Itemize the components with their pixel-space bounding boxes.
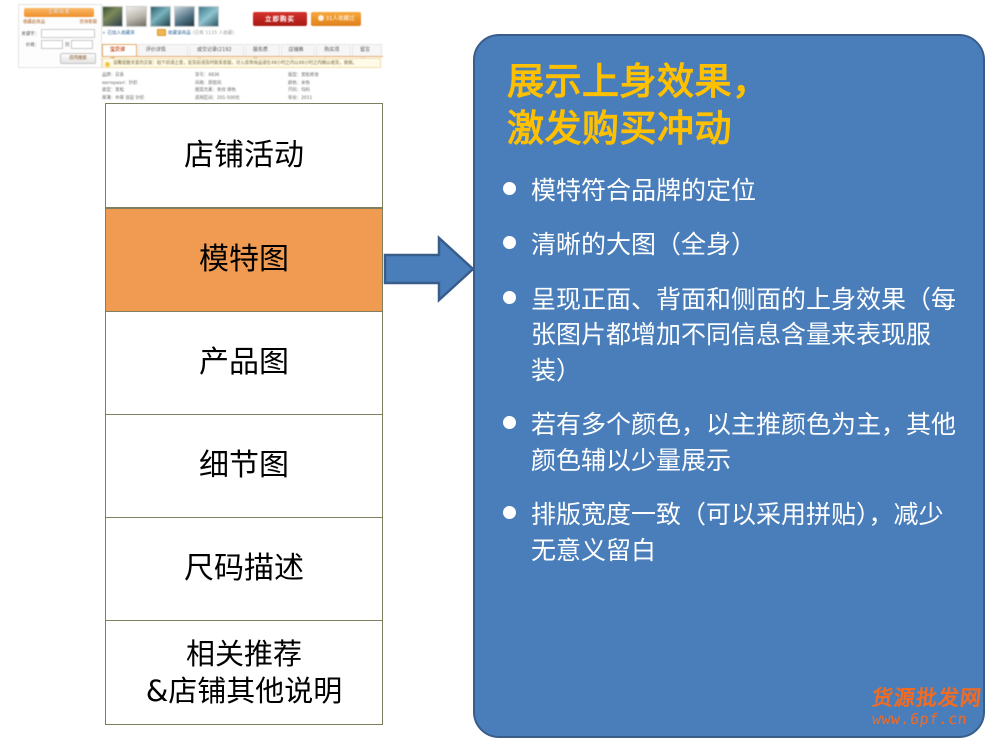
- flow-box-related-recommend[interactable]: 相关推荐 &店铺其他说明: [106, 621, 382, 724]
- taobao-page-screenshot: 立即出发 收藏此商品 咨询客服 关键字： 价格： 到 店内搜索: [0, 0, 400, 105]
- collected-badge: 31人收藏过: [311, 12, 361, 26]
- tab-reviews[interactable]: 评价详情(3811): [138, 44, 188, 56]
- bullet-dot-icon: [503, 416, 516, 429]
- attribute-column: 品牌：日系 материал：针织 类型：宽松 厚薄：中厚 双层 针织: [102, 72, 195, 102]
- bullet-text: 若有多个颜色，以主推颜色为主，其他颜色辅以少量展示: [531, 407, 965, 478]
- product-thumbnail-strip: [102, 6, 219, 27]
- bullet-dot-icon: [503, 182, 516, 195]
- attribute-item: материал：针织: [102, 80, 195, 88]
- attribute-item: 货号：4836: [195, 72, 288, 80]
- flow-box-shop-activity[interactable]: 店铺活动: [106, 104, 382, 208]
- shop-link-favorite[interactable]: 收藏此商品: [23, 19, 45, 25]
- attribute-item: 风格：原宿风: [195, 80, 288, 88]
- info-icon: [105, 62, 110, 67]
- product-sub-links: + 已加入收藏夹 收藏该商品 (已有 1135 人收藏): [102, 29, 234, 36]
- folder-icon: [157, 29, 166, 36]
- add-to-favorites-link[interactable]: + 已加入收藏夹: [102, 30, 135, 36]
- bullet-text: 排版宽度一致（可以采用拼贴），减少无意义留白: [531, 497, 965, 568]
- shop-notice-text: 温馨提醒亲爱的买家：拍下前请之意，发货前请及时联系客服，对入库等商品请在48小时…: [113, 61, 357, 66]
- keyword-input[interactable]: [41, 29, 95, 38]
- product-thumbnail[interactable]: [102, 6, 123, 27]
- favorite-count-text: (已有 1135 人收藏): [193, 30, 234, 36]
- attribute-item: 年份：2011: [288, 95, 381, 103]
- flow-box-label: 相关推荐 &店铺其他说明: [146, 636, 343, 709]
- flow-box-size-description[interactable]: 尺码描述: [106, 518, 382, 621]
- watermark-site-name: 货源批发网: [871, 686, 1000, 710]
- attribute-item: 类型：宽松: [102, 87, 195, 95]
- flow-box-label: 细节图: [199, 447, 289, 485]
- page-structure-flow: 店铺活动 模特图 产品图 细节图 尺码描述 相关推荐 &店铺其他说明: [105, 103, 383, 725]
- panel-title: 展示上身效果， 激发购买冲动: [507, 58, 965, 153]
- guidance-bullet-list: 模特符合品牌的定位 清晰的大图（全身） 呈现正面、背面和侧面的上身效果（每张图片…: [501, 173, 965, 569]
- product-thumbnail[interactable]: [198, 6, 219, 27]
- keyword-field-row: 关键字：: [21, 29, 95, 38]
- bullet-dot-icon: [503, 506, 516, 519]
- product-thumbnail[interactable]: [150, 6, 171, 27]
- flow-box-product-photo[interactable]: 产品图: [106, 312, 382, 415]
- shop-promo-button[interactable]: 立即出发: [24, 8, 94, 17]
- attribute-item: 版型：宽松修身: [288, 72, 381, 80]
- price-min-input[interactable]: [41, 40, 63, 49]
- attribute-item: 尺码：均码: [288, 87, 381, 95]
- watermark-url: www.6pf.cn: [871, 710, 999, 728]
- guidance-panel: 展示上身效果， 激发购买冲动 模特符合品牌的定位 清晰的大图（全身） 呈现正面、…: [473, 34, 985, 738]
- attribute-item: 颜色：米色: [288, 80, 381, 88]
- price-field-row: 价格： 到: [21, 40, 93, 49]
- bullet-dot-icon: [503, 291, 516, 304]
- tab-message-board[interactable]: 留言板: [352, 44, 382, 56]
- flow-box-label-line2: &店铺其他说明: [146, 674, 343, 708]
- bullet-item: 若有多个颜色，以主推颜色为主，其他颜色辅以少量展示: [501, 407, 965, 478]
- tab-service-quality[interactable]: 服务质量: [245, 44, 280, 56]
- slide-canvas: 立即出发 收藏此商品 咨询客服 关键字： 价格： 到 店内搜索: [0, 0, 1000, 750]
- attribute-item: 厚薄：中厚 双层 针织: [102, 95, 195, 103]
- flow-box-label: 尺码描述: [184, 550, 304, 588]
- tab-purchase-notes[interactable]: 购买须知: [316, 44, 351, 56]
- site-watermark: 货源批发网 www.6pf.cn: [872, 686, 998, 744]
- flow-box-label: 店铺活动: [184, 137, 304, 175]
- flow-box-detail-photo[interactable]: 细节图: [106, 415, 382, 518]
- product-tab-bar: 宝贝详情 评价详情(3811) 成交记录(2192件) 服务质量 店铺推荐 购买…: [102, 44, 383, 57]
- keyword-label: 关键字：: [21, 31, 39, 37]
- shop-quick-links: 收藏此商品 咨询客服: [23, 19, 97, 25]
- product-attribute-table: 品牌：日系 материал：针织 类型：宽松 厚薄：中厚 双层 针织 货号：4…: [102, 72, 381, 102]
- bullet-item: 清晰的大图（全身）: [501, 227, 965, 263]
- buy-now-button[interactable]: 立即购买: [253, 12, 307, 26]
- bullet-dot-icon: [503, 236, 516, 249]
- bullet-text: 模特符合品牌的定位: [531, 173, 965, 209]
- attribute-column: 货号：4836 风格：原宿风 图案元素：条纹 拼色 适用区间：201-500元: [195, 72, 288, 102]
- price-range-separator: 到: [65, 42, 69, 48]
- shop-link-service[interactable]: 咨询客服: [79, 19, 97, 25]
- attribute-column: 版型：宽松修身 颜色：米色 尺码：均码 年份：2011: [288, 72, 381, 102]
- shop-notice-bar: 温馨提醒亲爱的买家：拍下前请之意，发货前请及时联系客服，对入库等商品请在48小时…: [102, 58, 381, 68]
- bullet-item: 排版宽度一致（可以采用拼贴），减少无意义留白: [501, 497, 965, 568]
- tab-transactions[interactable]: 成交记录(2192件): [189, 44, 244, 56]
- flow-to-panel-arrow: [383, 232, 475, 306]
- tab-shop-recommend[interactable]: 店铺推荐: [281, 44, 316, 56]
- price-label: 价格：: [21, 42, 39, 48]
- favorite-count-link[interactable]: 收藏该商品: [168, 30, 191, 36]
- flow-box-label-line1: 相关推荐: [186, 637, 302, 671]
- panel-title-line1: 展示上身效果，: [507, 58, 965, 105]
- shop-search-button[interactable]: 店内搜索: [60, 53, 96, 64]
- bullet-text: 清晰的大图（全身）: [531, 227, 965, 263]
- flow-box-model-photo[interactable]: 模特图: [106, 208, 382, 312]
- attribute-item: 图案元素：条纹 拼色: [195, 87, 288, 95]
- tab-product-detail[interactable]: 宝贝详情: [102, 44, 137, 56]
- star-icon: [318, 15, 324, 21]
- flow-box-label: 产品图: [199, 344, 289, 382]
- shop-search-panel: 立即出发 收藏此商品 咨询客服 关键字： 价格： 到 店内搜索: [18, 4, 102, 68]
- bullet-item: 模特符合品牌的定位: [501, 173, 965, 209]
- product-thumbnail[interactable]: [174, 6, 195, 27]
- bullet-text: 呈现正面、背面和侧面的上身效果（每张图片都增加不同信息含量来表现服装）: [531, 282, 965, 389]
- flow-box-label: 模特图: [199, 241, 289, 279]
- attribute-item: 适用区间：201-500元: [195, 95, 288, 103]
- attribute-item: 品牌：日系: [102, 72, 195, 80]
- product-thumbnail[interactable]: [126, 6, 147, 27]
- bullet-item: 呈现正面、背面和侧面的上身效果（每张图片都增加不同信息含量来表现服装）: [501, 282, 965, 389]
- price-max-input[interactable]: [71, 40, 93, 49]
- panel-title-line2: 激发购买冲动: [507, 105, 965, 152]
